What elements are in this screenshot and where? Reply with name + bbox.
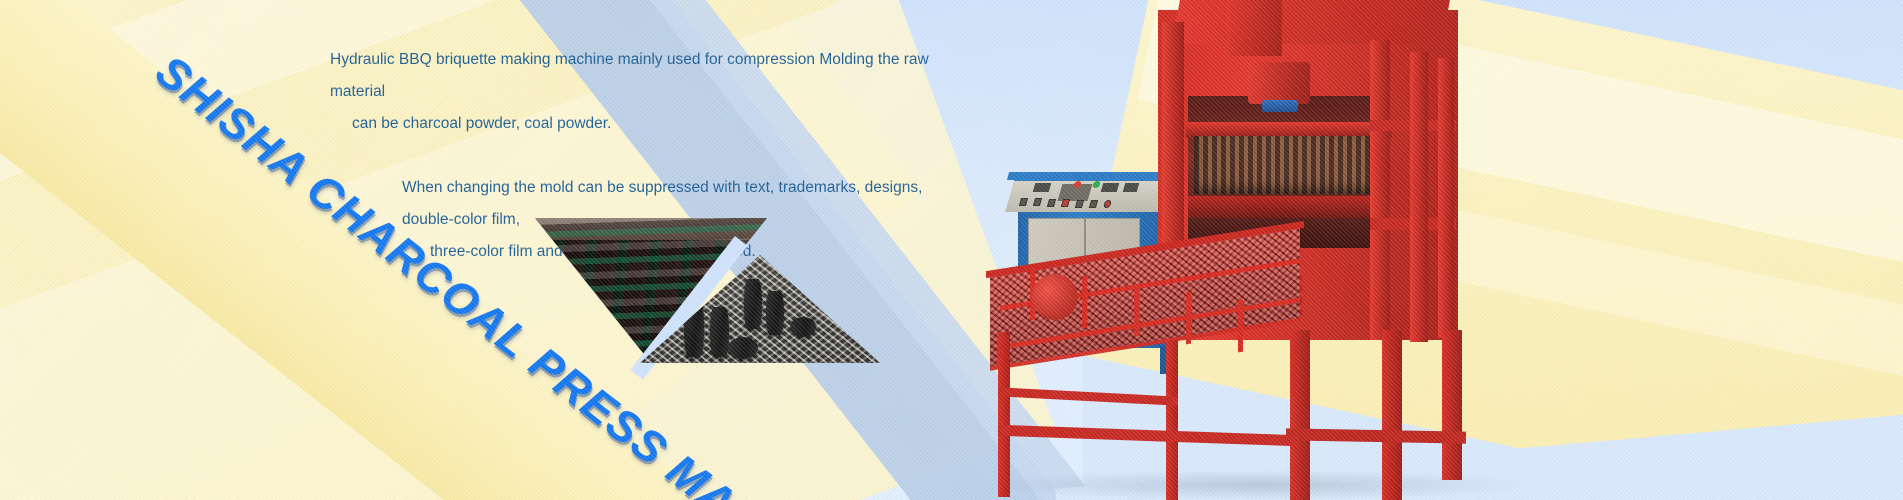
charcoal-piece (790, 317, 816, 337)
conveyor-leg (1166, 340, 1178, 500)
conveyor-railing-post (1082, 276, 1087, 329)
promotional-banner: SHISHA CHARCOAL PRESS MACHINE Hydraulic … (0, 0, 1903, 500)
charcoal-piece (710, 307, 729, 357)
description-line: can be charcoal powder, coal powder. (330, 108, 970, 140)
charcoal-piece (728, 337, 758, 359)
press-leg-cross-brace (1286, 428, 1466, 443)
press-support-leg (1442, 330, 1462, 480)
panel-gauge (1033, 183, 1052, 192)
press-ram (1248, 62, 1310, 104)
description-line: Hydraulic BBQ briquette making machine m… (330, 44, 970, 108)
conveyor-cross-brace (998, 425, 1298, 446)
briquette-mold-grid (1194, 136, 1382, 194)
conveyor-railing-post (1238, 300, 1243, 353)
press-cylinder (1226, 0, 1282, 56)
press-support-leg (1382, 330, 1402, 500)
panel-gauge (1123, 183, 1140, 192)
photo-press-machine (990, 0, 1903, 500)
press-column (1438, 58, 1454, 338)
conveyor-railing-post (1186, 292, 1191, 345)
conveyor-leg (998, 332, 1010, 497)
description-paragraph-1: Hydraulic BBQ briquette making machine m… (330, 44, 970, 140)
press-support-leg (1290, 330, 1310, 500)
conveyor-drive-roller (1032, 274, 1078, 320)
panel-gauge (1101, 183, 1120, 192)
charcoal-piece (766, 291, 784, 335)
press-column (1370, 40, 1390, 340)
mold-base-plate (1188, 196, 1390, 218)
charcoal-piece (744, 279, 762, 329)
press-column (1410, 52, 1428, 342)
conveyor-railing-post (1134, 284, 1139, 337)
press-ram-coupling (1262, 100, 1298, 112)
conveyor-cross-brace (998, 387, 1178, 405)
